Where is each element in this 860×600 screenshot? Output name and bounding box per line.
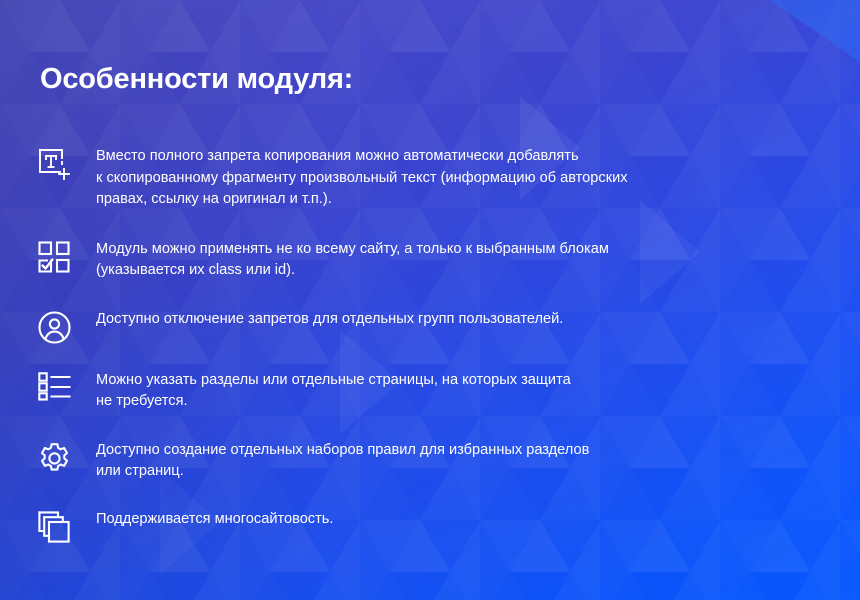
gear-icon xyxy=(38,440,96,475)
feature-item: Доступно создание отдельных наборов прав… xyxy=(0,440,860,483)
feature-text: Можно указать разделы или отдельные стра… xyxy=(96,370,860,413)
feature-text: Доступно создание отдельных наборов прав… xyxy=(96,440,860,483)
feature-list: Вместо полного запрета копирования можно… xyxy=(0,146,860,543)
text-add-icon xyxy=(38,146,96,182)
page-title: Особенности модуля: xyxy=(40,63,353,96)
grid-check-icon xyxy=(38,239,96,273)
feature-text: Доступно отключение запретов для отдельн… xyxy=(96,309,860,331)
feature-item: Модуль можно применять не ко всему сайту… xyxy=(0,239,860,282)
user-circle-icon xyxy=(38,309,96,344)
copies-stack-icon xyxy=(38,509,96,543)
feature-item: Вместо полного запрета копирования можно… xyxy=(0,146,860,211)
feature-text: Модуль можно применять не ко всему сайту… xyxy=(96,239,860,282)
feature-text: Вместо полного запрета копирования можно… xyxy=(96,146,860,211)
feature-item: Можно указать разделы или отдельные стра… xyxy=(0,370,860,413)
checklist-icon xyxy=(38,370,96,401)
feature-item: Доступно отключение запретов для отдельн… xyxy=(0,309,860,344)
feature-item: Поддерживается многосайтовость. xyxy=(0,509,860,543)
feature-text: Поддерживается многосайтовость. xyxy=(96,509,860,531)
